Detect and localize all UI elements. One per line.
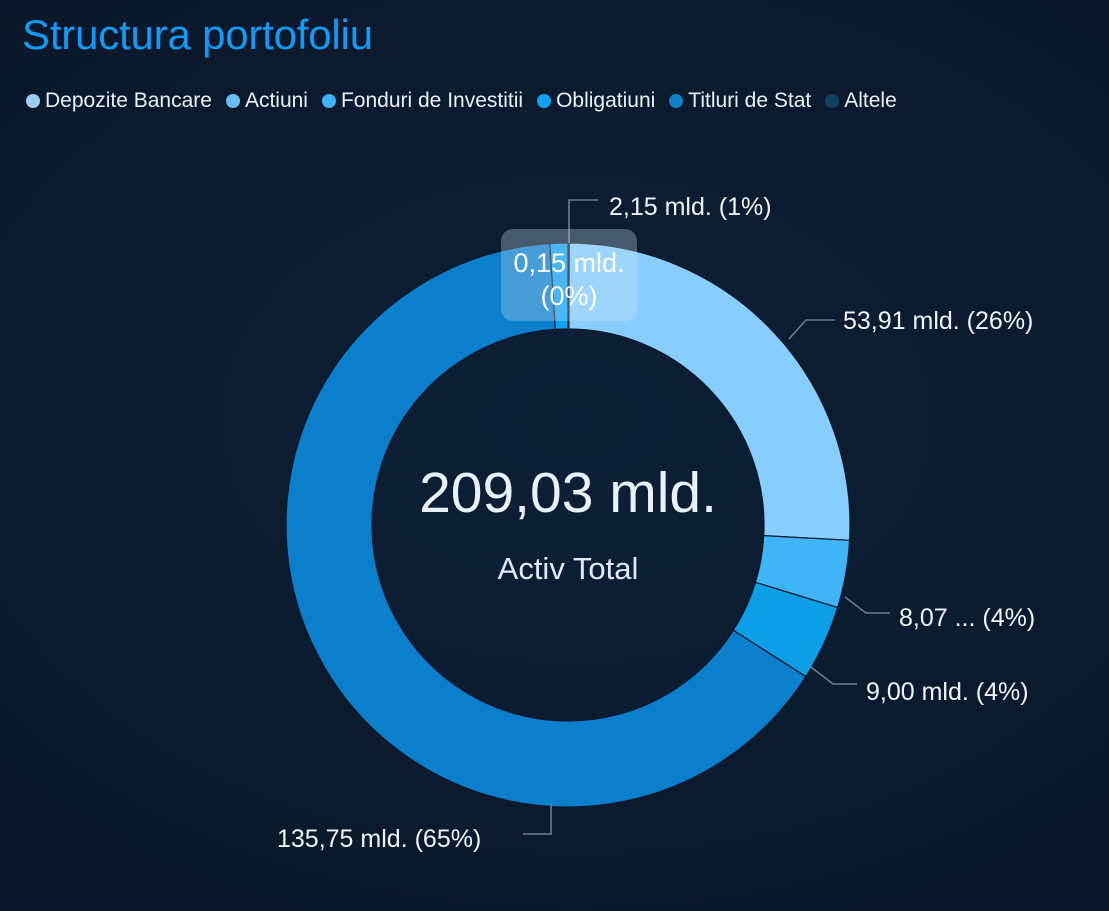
tooltip-value: 0,15 mld.	[513, 248, 624, 278]
chart-page: Structura portofoliu Depozite Bancare Ac…	[0, 0, 1109, 911]
leader-line-actiuni	[845, 597, 890, 613]
callout-fonduri: 9,00 mld. (4%)	[866, 678, 1029, 706]
leader-line-depozite	[789, 320, 835, 339]
leader-line-titluri	[523, 803, 551, 834]
slice-tooltip: 0,15 mld. (0%)	[501, 229, 637, 321]
donut-slices[interactable]	[286, 243, 850, 807]
callout-depozite: 53,91 mld. (26%)	[843, 307, 1033, 335]
leader-line-fonduri	[811, 667, 857, 684]
callout-obligatiuni: 2,15 mld. (1%)	[609, 193, 772, 221]
center-total-value: 209,03 mld.	[419, 461, 717, 525]
tooltip-percent: (0%)	[540, 281, 597, 311]
center-total-caption: Activ Total	[498, 551, 639, 586]
callout-actiuni: 8,07 ... (4%)	[899, 604, 1035, 632]
donut-chart[interactable]: 2,15 mld. (1%) 53,91 mld. (26%) 8,07 ...…	[0, 0, 1109, 911]
callout-titluri: 135,75 mld. (65%)	[277, 825, 481, 853]
